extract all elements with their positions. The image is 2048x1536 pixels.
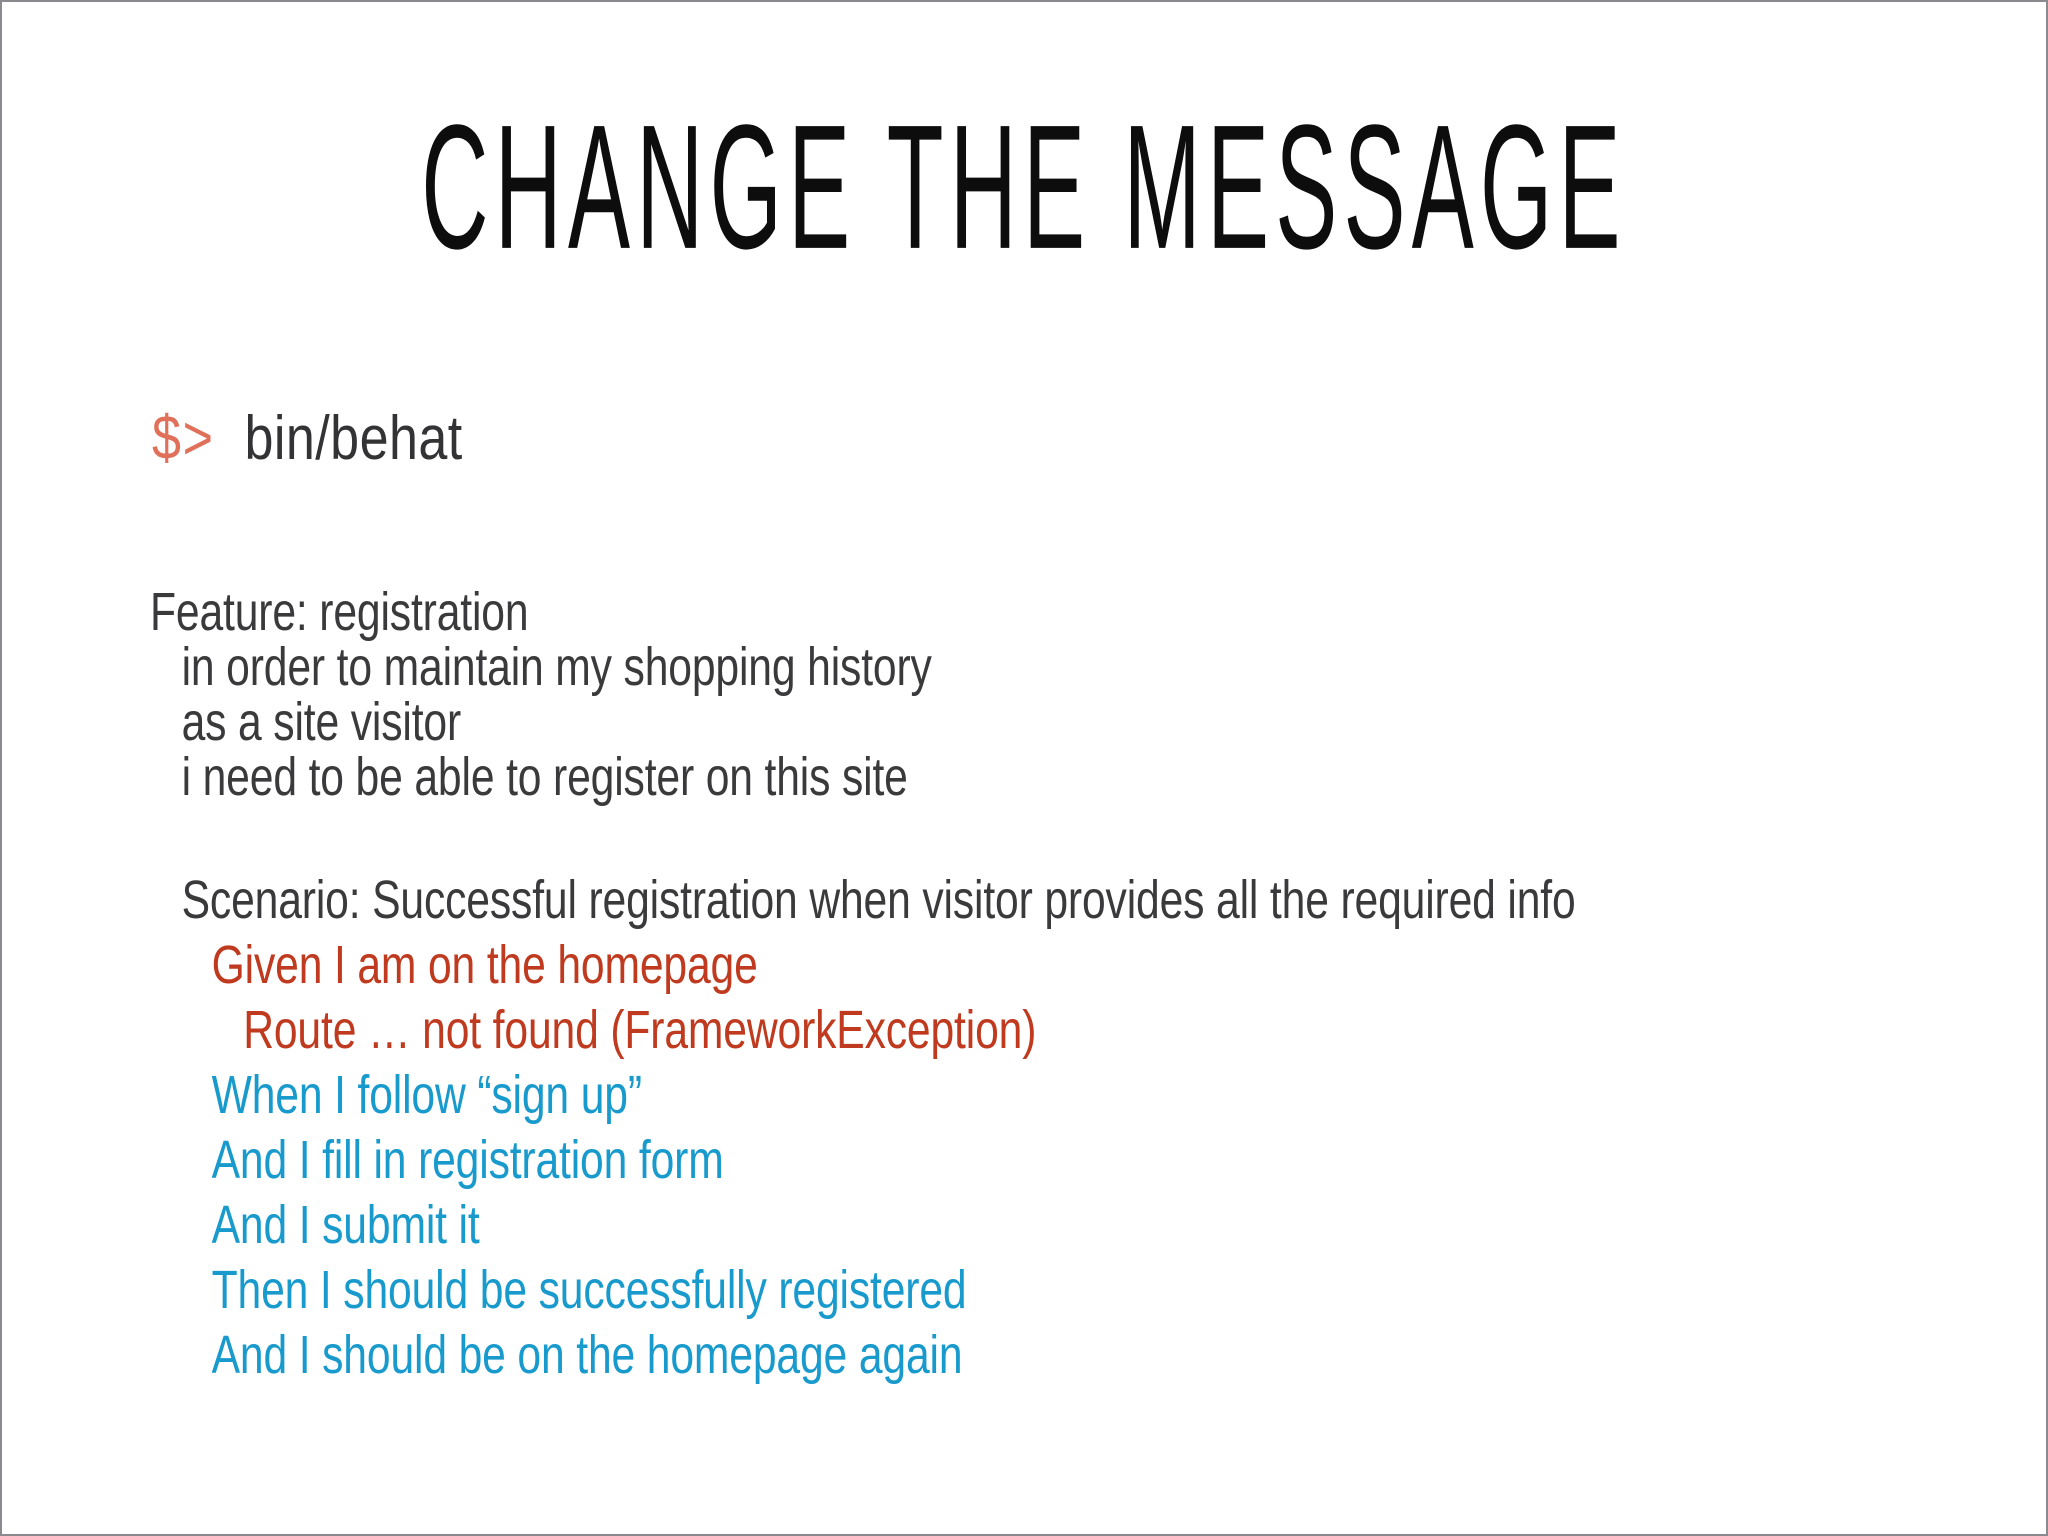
scenario-step-and-homepage: And I should be on the homepage again (150, 1328, 1616, 1382)
page-title: Change the Message (390, 98, 1657, 275)
scenario-step-when: When I follow “sign up” (150, 1068, 1616, 1122)
scenario-step-given: Given I am on the homepage (150, 938, 1616, 992)
command-spacer (215, 404, 245, 473)
feature-label: Feature: registration (150, 585, 1616, 639)
feature-narrative-line: i need to be able to register on this si… (150, 750, 1616, 804)
presentation-slide: Change the Message $> bin/behat Feature:… (0, 0, 2048, 1536)
behat-output: Feature: registration in order to mainta… (150, 585, 2006, 1393)
scenario-step-then: Then I should be successfully registered (150, 1263, 1616, 1317)
scenario-label: Scenario: Successful registration when v… (150, 873, 1616, 927)
feature-narrative-line: in order to maintain my shopping history (150, 640, 1616, 694)
output-blank-line (150, 805, 1616, 839)
terminal-output-block: $> bin/behat (152, 404, 1966, 473)
command-text: bin/behat (245, 404, 463, 473)
shell-prompt-symbol: $> (152, 404, 215, 473)
feature-narrative-line: as a site visitor (150, 695, 1616, 749)
output-blank-line (150, 839, 1616, 873)
command-line: $> bin/behat (152, 404, 1676, 473)
scenario-step-error-message: Route … not found (FrameworkException) (150, 1003, 1616, 1057)
scenario-step-and-fill: And I fill in registration form (150, 1133, 1616, 1187)
scenario-step-and-submit: And I submit it (150, 1198, 1616, 1252)
